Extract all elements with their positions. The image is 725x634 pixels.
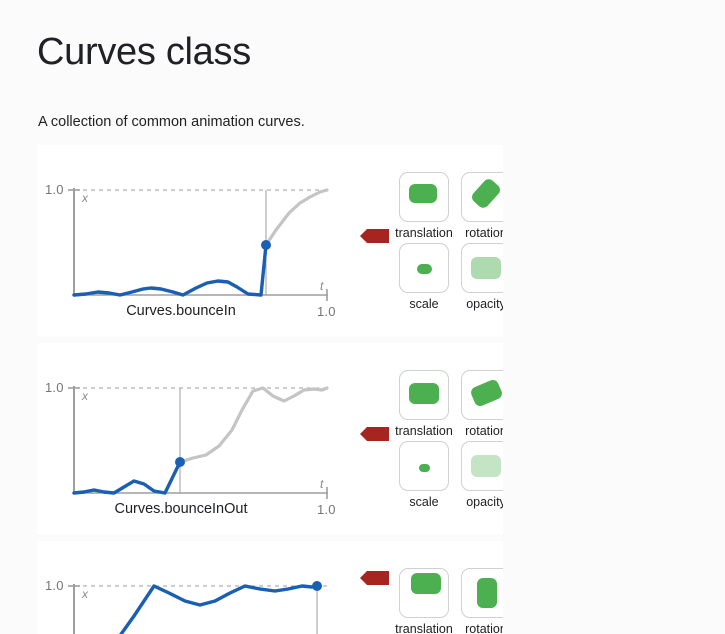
translation-demo-box (399, 172, 449, 222)
scale-demo-box (399, 243, 449, 293)
demo-cell-translation[interactable]: translation (398, 172, 450, 241)
demo-cell-translation[interactable]: translation (398, 370, 450, 439)
page-title: Curves class (37, 28, 251, 76)
rotation-label: rotation (465, 423, 503, 439)
demo-cell-scale[interactable]: scale (398, 441, 450, 510)
demo-grid: translation rotation scale (398, 370, 503, 512)
curve-active-path (74, 245, 266, 295)
demo-cell-rotation[interactable]: rotation (460, 568, 503, 634)
rotation-demo-box (461, 172, 503, 222)
demo-grid: translation rotation scale (398, 172, 503, 314)
curve-future-path (74, 190, 327, 295)
translation-label: translation (395, 225, 453, 241)
rotation-label: rotation (465, 225, 503, 241)
demo-cell-opacity[interactable]: opacity (460, 243, 503, 312)
y-axis-max-label: 1.0 (45, 578, 64, 593)
scale-shape (417, 264, 432, 274)
y-axis-max-label: 1.0 (45, 380, 64, 395)
translation-label: translation (395, 423, 453, 439)
demo-row-bottom: scale opacity (398, 441, 503, 510)
curve-future-path (74, 586, 317, 634)
opacity-shape (471, 455, 501, 477)
demo-cell-rotation[interactable]: rotation (460, 370, 503, 439)
translation-shape (409, 184, 437, 203)
curve-future-path (74, 388, 327, 493)
demo-cell-translation[interactable]: translation (398, 568, 450, 634)
translation-demo-box (399, 568, 449, 618)
curve-progress-dot (175, 457, 185, 467)
red-pointer-arrow-icon (367, 571, 389, 585)
rotation-demo-box (461, 568, 503, 618)
y-axis-name: x (82, 389, 88, 403)
y-axis-name: x (82, 191, 88, 205)
curve-name-label: Curves.bounceInOut (37, 501, 325, 517)
curve-demo-card[interactable]: 1.0 x t 1.0 Curves.bounceInOut translati… (37, 343, 503, 534)
curve-chart: 1.0 x (37, 541, 337, 634)
x-axis-name: t (320, 477, 323, 491)
curve-demo-card[interactable]: 1.0 x t 1.0 Curves.bounceIn translation (37, 145, 503, 336)
red-pointer-arrow-icon (367, 427, 389, 441)
rotation-demo-box (461, 370, 503, 420)
demo-row-bottom: scale opacity (398, 243, 503, 312)
page-subtitle: A collection of common animation curves. (38, 112, 305, 132)
curve-progress-dot (261, 240, 271, 250)
rotation-label: rotation (465, 621, 503, 634)
curve-active-path (74, 462, 180, 493)
red-pointer-arrow-icon (367, 229, 389, 243)
rotation-shape (469, 378, 503, 408)
rotation-shape (477, 578, 497, 608)
curves-class-page: Curves class A collection of common anim… (0, 0, 725, 634)
demo-cell-opacity[interactable]: opacity (460, 441, 503, 510)
curve-progress-dot (312, 581, 322, 591)
translation-shape (411, 573, 441, 594)
curve-chart: 1.0 x t 1.0 Curves.bounceInOut (37, 343, 337, 534)
opacity-label: opacity (466, 494, 503, 510)
y-axis-max-label: 1.0 (45, 182, 64, 197)
scale-demo-box (399, 441, 449, 491)
curve-demo-card[interactable]: 1.0 x translation rot (37, 541, 503, 634)
opacity-demo-box (461, 243, 503, 293)
demo-cell-scale[interactable]: scale (398, 243, 450, 312)
opacity-demo-box (461, 441, 503, 491)
curve-chart: 1.0 x t 1.0 Curves.bounceIn (37, 145, 337, 336)
scale-label: scale (409, 494, 438, 510)
demo-row-top: translation rotation (398, 172, 503, 241)
translation-demo-box (399, 370, 449, 420)
translation-shape (409, 383, 439, 404)
opacity-label: opacity (466, 296, 503, 312)
opacity-shape (471, 257, 501, 279)
curve-name-label: Curves.bounceIn (37, 303, 325, 319)
demo-row-top: translation rotation (398, 370, 503, 439)
rotation-shape (470, 177, 503, 211)
scale-shape (419, 464, 430, 472)
curve-active-path (74, 586, 317, 634)
x-axis-name: t (320, 279, 323, 293)
demo-row-top: translation rotation (398, 568, 503, 634)
scale-label: scale (409, 296, 438, 312)
demo-grid: translation rotation (398, 568, 503, 634)
y-axis-name: x (82, 587, 88, 601)
translation-label: translation (395, 621, 453, 634)
demo-cell-rotation[interactable]: rotation (460, 172, 503, 241)
